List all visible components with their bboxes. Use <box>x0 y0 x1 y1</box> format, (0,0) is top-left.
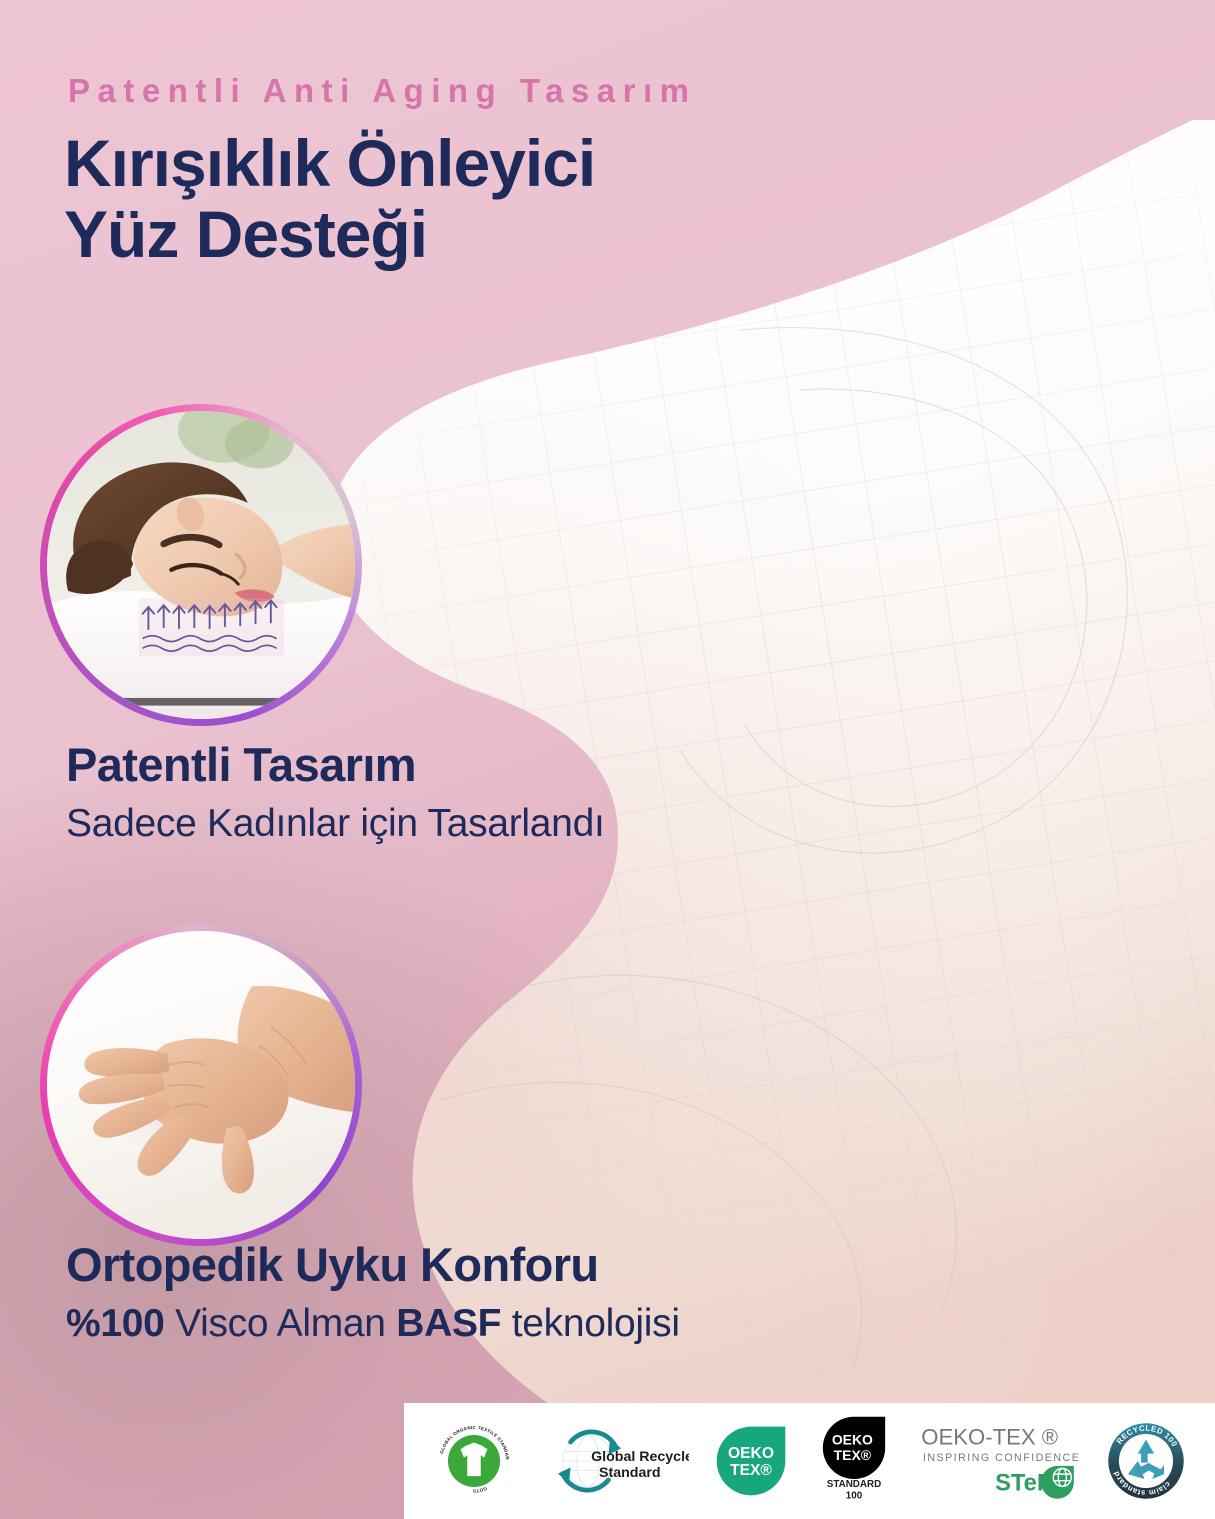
feature-block-ortopedik-uyku-konforu: Ortopedik Uyku Konforu %100 Visco Alman … <box>66 1237 680 1346</box>
svg-text:GOTS: GOTS <box>472 1486 487 1494</box>
feature-subtitle-tail: teknolojisi <box>501 1302 680 1345</box>
global-recycled-standard-logo: Global Recycled Standard <box>539 1421 689 1501</box>
grs-line-2: Standard <box>599 1465 661 1481</box>
oeko-100-caption-1: STANDARD <box>827 1479 881 1490</box>
feature-subtitle-mid: Visco Alman <box>165 1302 397 1345</box>
oeko-100-caption-2: 100 <box>846 1491 863 1502</box>
woman-sleeping-on-pillow-photo <box>47 411 355 719</box>
oeko-tex-logo: OEKO TEX® <box>712 1422 790 1500</box>
oeko-tex-step-logo: OEKO-TEX ® INSPIRING CONFIDENCE STeP <box>918 1420 1082 1502</box>
feature-subtitle-brand: BASF <box>396 1302 501 1345</box>
page-title: Kırışıklık Önleyici Yüz Desteği <box>64 128 595 271</box>
oeko-tex-standard-100-logo: OEKO TEX® STANDARD 100 <box>813 1415 895 1507</box>
feature-subtitle: Sadece Kadınlar için Tasarlandı <box>66 802 605 846</box>
feature-photo-ring-memory-foam <box>40 924 362 1246</box>
step-title: OEKO-TEX ® <box>921 1425 1058 1450</box>
step-tagline: INSPIRING CONFIDENCE <box>923 1452 1080 1464</box>
feature-block-patentli-tasarim: Patentli Tasarım Sadece Kadınlar için Ta… <box>66 737 605 846</box>
step-globe-icon <box>1041 1466 1074 1499</box>
eyebrow-text: Patentli Anti Aging Tasarım <box>68 72 697 110</box>
oeko-tex-line-1: OEKO <box>728 1445 774 1462</box>
gots-abbr: GOTS <box>472 1486 487 1494</box>
oeko-100-line-2: TEX® <box>834 1447 872 1463</box>
feature-title: Ortopedik Uyku Konforu <box>66 1237 680 1292</box>
certification-logos-strip: GLOBAL ORGANIC TEXTILE STANDARD GOTS Glo… <box>404 1403 1215 1519</box>
headline-line-2: Yüz Desteği <box>64 199 595 270</box>
feature-title: Patentli Tasarım <box>66 737 605 792</box>
feature-subtitle: %100 Visco Alman BASF teknolojisi <box>66 1302 680 1346</box>
hand-pressing-memory-foam-photo <box>47 931 355 1239</box>
oeko-100-line-1: OEKO <box>832 1432 873 1448</box>
feature-photo-ring-sleeping-woman <box>40 404 362 726</box>
feature-subtitle-percent: %100 <box>66 1302 165 1345</box>
headline-line-1: Kırışıklık Önleyici <box>64 126 595 200</box>
oeko-tex-line-2: TEX® <box>730 1462 772 1479</box>
gots-certification-logo: GLOBAL ORGANIC TEXTILE STANDARD GOTS <box>432 1419 516 1503</box>
recycled-100-claim-standard-logo: RECYCLED 100 claim standard <box>1105 1420 1187 1502</box>
grs-line-1: Global Recycled <box>591 1449 689 1465</box>
